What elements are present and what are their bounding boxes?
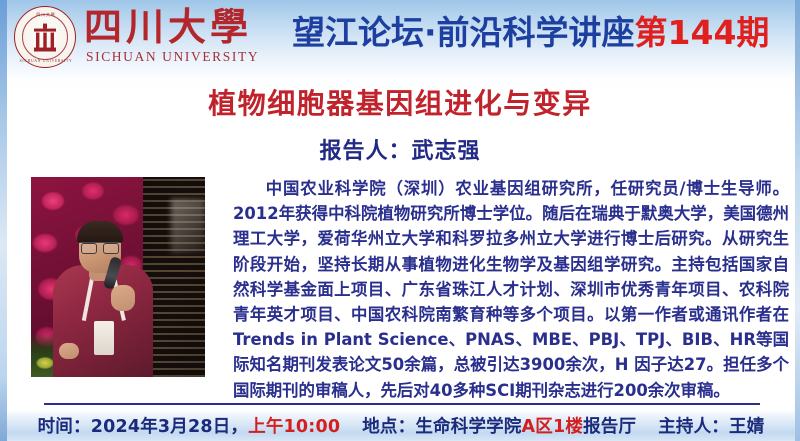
seal-top-text: 四川大學 bbox=[15, 12, 77, 18]
photo-person-right-hand bbox=[111, 285, 135, 311]
photo-person-left-hand bbox=[59, 343, 79, 359]
speaker-photo bbox=[31, 177, 205, 377]
speaker-biography-text: 中国农业科学院（深圳）农业基因组研究所，任研究员/博士生导师。2012年获得中科… bbox=[233, 176, 789, 403]
photo-person-glasses bbox=[80, 242, 120, 253]
place-prefix: 生命科学学院 bbox=[415, 417, 521, 437]
seminar-poster: 四川大學 SICHUAN UNIVERSITY 四川大學 SICHUAN UNI… bbox=[0, 0, 800, 441]
event-date: 2024年3月28日， bbox=[91, 417, 248, 437]
place-highlight: A区1楼 bbox=[522, 417, 584, 437]
university-name-cn: 四川大學 bbox=[84, 6, 252, 48]
time-label: 时间： bbox=[38, 417, 91, 437]
university-seal-icon: 四川大學 SICHUAN UNIVERSITY bbox=[14, 6, 76, 68]
place-label: 地点： bbox=[362, 417, 415, 437]
university-gate-icon bbox=[30, 24, 60, 52]
series-banner-issue: 第144期 bbox=[635, 6, 770, 54]
footer-divider bbox=[44, 403, 760, 405]
university-name-en: SICHUAN UNIVERSITY bbox=[86, 49, 259, 65]
photo-person-hair bbox=[77, 221, 123, 243]
event-details-bar: 时间：2024年3月28日，上午10:00地点：生命科学学院A区1楼报告厅主持人… bbox=[7, 410, 795, 441]
speaker-biography: 中国农业科学院（深圳）农业基因组研究所，任研究员/博士生导师。2012年获得中科… bbox=[233, 176, 789, 403]
host-label: 主持人： bbox=[658, 417, 729, 437]
university-logo: 四川大學 SICHUAN UNIVERSITY 四川大學 SICHUAN UNI… bbox=[14, 4, 264, 70]
speaker-line: 报告人：武志强 bbox=[0, 133, 800, 165]
event-time: 上午10:00 bbox=[248, 417, 340, 437]
seal-bottom-text: SICHUAN UNIVERSITY bbox=[15, 59, 77, 63]
series-banner: 望江论坛·前沿科学讲座 第144期 bbox=[292, 7, 769, 53]
event-details-text: 时间：2024年3月28日，上午10:00地点：生命科学学院A区1楼报告厅主持人… bbox=[38, 413, 765, 438]
left-edge-strip bbox=[0, 0, 7, 441]
host-name: 王婧 bbox=[729, 417, 764, 437]
right-edge-strip bbox=[795, 0, 800, 441]
series-banner-main: 望江论坛·前沿科学讲座 bbox=[292, 6, 635, 54]
photo-name-badge bbox=[94, 321, 114, 355]
place-suffix: 报告厅 bbox=[583, 417, 636, 437]
lecture-title: 植物细胞器基因组进化与变异 bbox=[0, 82, 800, 122]
